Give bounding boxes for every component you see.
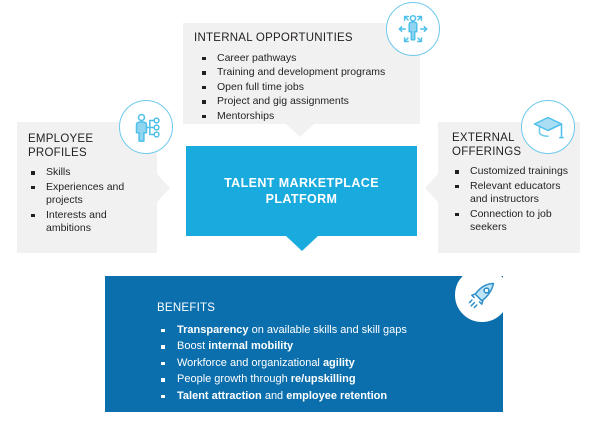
arrow-employee-to-platform [157, 174, 170, 202]
list-item: Interests and ambitions [28, 209, 149, 236]
rocket-glyph [465, 278, 499, 312]
list-item: People growth through re/upskilling [157, 372, 503, 388]
rocket-icon [455, 268, 509, 322]
arrow-platform-to-benefits [286, 236, 318, 251]
list-item: Connection to job seekers [452, 208, 574, 235]
internal-opportunities-list: Career pathwaysTraining and development … [193, 52, 410, 124]
list-item: Training and development programs [193, 66, 410, 80]
person-mobility-arrows-glyph [396, 12, 430, 46]
panel-benefits: BENEFITS Transparency on available skill… [105, 276, 503, 412]
list-item: Relevant educators and instructors [452, 180, 574, 207]
platform-label: TALENT MARKETPLACE PLATFORM [224, 175, 379, 207]
panel-internal-opportunities: INTERNAL OPPORTUNITIES Career pathwaysTr… [183, 23, 420, 124]
employee-profiles-list: SkillsExperiences and projectsInterests … [28, 166, 149, 236]
list-item: Workforce and organizational agility [157, 356, 503, 372]
list-item: Skills [28, 166, 149, 180]
benefits-title: BENEFITS [157, 302, 503, 316]
person-skills-nodes-glyph [129, 110, 163, 144]
list-item: Customized trainings [452, 165, 574, 179]
person-mobility-arrows-icon [386, 2, 440, 56]
list-item: Boost internal mobility [157, 339, 503, 355]
internal-opportunities-title: INTERNAL OPPORTUNITIES [194, 32, 410, 46]
list-item: Transparency on available skills and ski… [157, 323, 503, 339]
person-skills-nodes-icon [119, 100, 173, 154]
graduation-cap-icon [521, 100, 575, 154]
benefits-list: Transparency on available skills and ski… [157, 323, 503, 405]
list-item: Mentorships [193, 110, 410, 124]
list-item: Project and gig assignments [193, 95, 410, 109]
external-offerings-list: Customized trainingsRelevant educators a… [452, 165, 574, 235]
list-item: Talent attraction and employee retention [157, 389, 503, 405]
arrow-internal-to-platform [286, 124, 314, 137]
panel-talent-marketplace-platform: TALENT MARKETPLACE PLATFORM [186, 146, 417, 236]
list-item: Career pathways [193, 52, 410, 66]
diagram-canvas: INTERNAL OPPORTUNITIES Career pathwaysTr… [0, 0, 607, 423]
graduation-cap-glyph [531, 110, 565, 144]
list-item: Experiences and projects [28, 181, 149, 208]
list-item: Open full time jobs [193, 81, 410, 95]
arrow-external-to-platform [425, 174, 438, 202]
